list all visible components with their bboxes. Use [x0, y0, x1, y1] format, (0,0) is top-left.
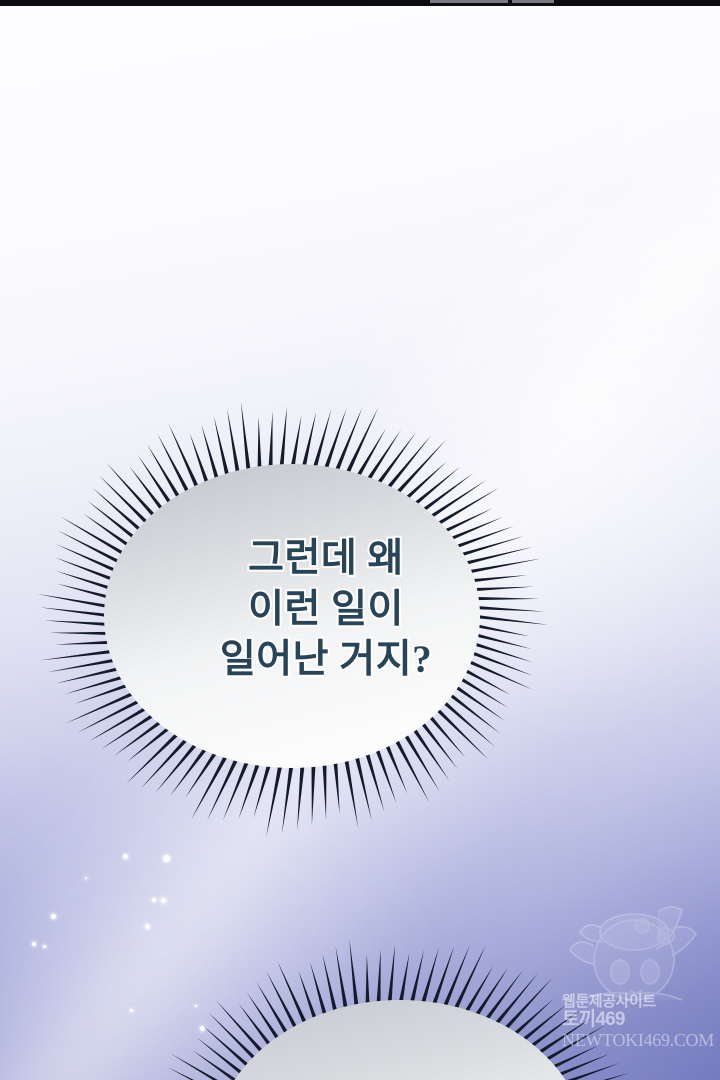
webtoon-panel: 그런데 왜 이런 일이 일어난 거지? 웹툰제공사이트 — [0, 0, 720, 1080]
speech-bubble-text: 그런데 왜 이런 일이 일어난 거지? — [0, 534, 720, 686]
dialogue-line-1: 그런데 왜 — [0, 534, 720, 585]
top-edge-highlight — [512, 0, 554, 3]
dialogue-line-3: 일어난 거지? — [0, 635, 720, 686]
dialogue-line-2: 이런 일이 — [0, 585, 720, 636]
panel-top-edge — [0, 0, 720, 6]
top-edge-highlight — [430, 0, 508, 3]
